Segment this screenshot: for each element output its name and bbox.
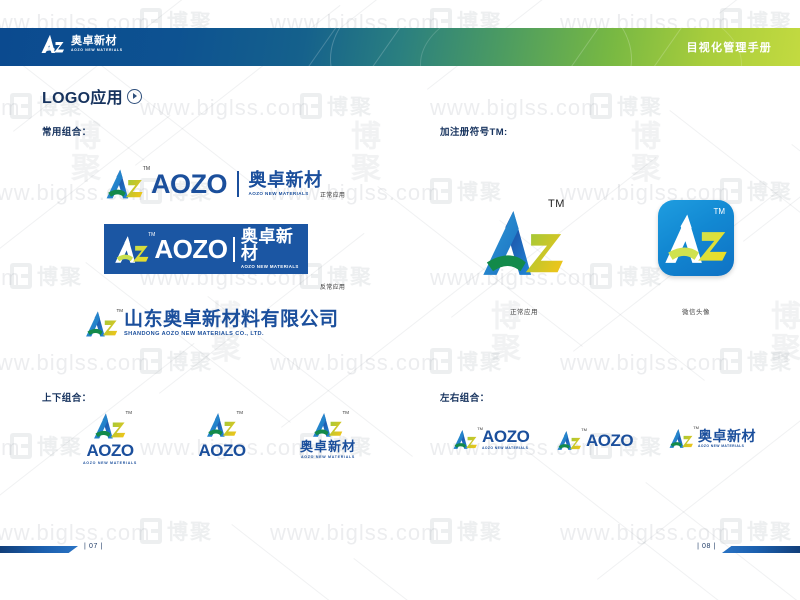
watermark-logo: 博聚 — [720, 346, 793, 376]
logo-row-aozo: TM AOZO — [556, 430, 633, 451]
watermark-url: www.biglss.com — [0, 265, 20, 291]
logo-en-sub: AOZO NEW MATERIALS — [249, 192, 323, 197]
aozo-a-icon — [40, 34, 66, 54]
logo-stack-cn: TM 奥卓新材 AOZO NEW MATERIALS — [276, 412, 380, 459]
header-logo: 奥卓新材 AOZO NEW MATERIALS — [40, 34, 123, 54]
section-heading-vertical: 上下组合： — [42, 390, 92, 404]
aozo-a-icon: TM — [104, 168, 146, 200]
watermark-url: www.biglss.com — [560, 350, 730, 376]
watermark-logo: 博聚 — [140, 346, 213, 376]
watermark-logo: 博聚 — [10, 261, 83, 291]
watermark-url: www.biglss.com — [270, 350, 440, 376]
watermark-diagonal — [523, 448, 728, 600]
section-heading-tm: 加注册符号TM: — [440, 124, 508, 138]
watermark-mark-cn: 博聚 — [617, 261, 663, 291]
footer-bar-right — [722, 546, 800, 553]
watermark-mark-cn: 博聚 — [747, 516, 793, 546]
logo-row-aozo-full: TM AOZO AOZO NEW MATERIALS — [452, 428, 530, 450]
watermark-g-icon — [430, 348, 452, 374]
logo-cn-name: 奥卓新材 — [249, 171, 323, 189]
logo-wordmark: AOZO — [151, 169, 227, 200]
aozo-a-icon: TM — [556, 430, 583, 451]
watermark-logo: 博聚 — [140, 516, 213, 546]
watermark-mark-cn: 博聚 — [457, 516, 503, 546]
page-title: LOGO应用 — [42, 84, 142, 108]
logo-divider — [233, 237, 234, 262]
caption-normal: 正常应用 — [320, 190, 345, 199]
watermark-logo: 博聚 — [590, 91, 663, 121]
watermark-mark-cn: 博聚 — [167, 346, 213, 376]
caption-reverse: 反常应用 — [320, 282, 345, 291]
watermark-g-icon — [300, 93, 322, 119]
watermark-logo: 博聚 — [430, 346, 503, 376]
watermark-g-icon — [720, 518, 742, 544]
logo-stack-aozo-full: TM AOZO AOZO NEW MATERIALS — [58, 412, 162, 465]
manual-title: 目视化管理手册 — [687, 39, 772, 55]
watermark-url: www.biglss.com — [0, 350, 150, 376]
watermark-big-glyph: 博聚 — [340, 120, 384, 184]
watermark-logo: 博聚 — [720, 516, 793, 546]
header-brand-cn: 奥卓新材 — [71, 36, 123, 47]
watermark-url: www.biglss.com — [0, 520, 150, 546]
watermark-big-glyph: 博聚 — [760, 300, 800, 364]
watermark-diagonal — [645, 482, 800, 600]
caption-tm-normal: 正常应用 — [478, 306, 570, 316]
logo-row-cn: TM 奥卓新材 AOZO NEW MATERIALS — [668, 428, 756, 449]
aozo-a-icon: TM — [452, 429, 479, 450]
watermark-url: www.biglss.com — [0, 435, 20, 461]
logo-lockup-normal: TM AOZO 奥卓新材 AOZO NEW MATERIALS — [104, 168, 323, 200]
watermark-mark-cn: 博聚 — [617, 91, 663, 121]
watermark-g-icon — [590, 263, 612, 289]
watermark-url: www.biglss.com — [430, 95, 600, 121]
watermark-url: www.biglss.com — [270, 520, 440, 546]
logo-lockup-full-name: TM 山东奥卓新材料有限公司 SHANDONG AOZO NEW MATERIA… — [84, 310, 339, 338]
logo-cn-name: 奥卓新材 — [241, 228, 308, 262]
logo-cn-name: 奥卓新材 — [698, 429, 756, 443]
logo-stack-aozo: TM AOZO — [170, 412, 274, 459]
watermark-diagonal — [231, 524, 436, 600]
watermark-mark-cn: 博聚 — [747, 346, 793, 376]
watermark-big-glyph: 博聚 — [620, 120, 664, 184]
logo-wordmark: AOZO — [86, 442, 133, 459]
aozo-a-icon-large — [478, 196, 570, 290]
footer-bar-left — [0, 546, 78, 553]
logo-en-sub: AOZO NEW MATERIALS — [83, 461, 137, 465]
watermark-g-icon — [430, 178, 452, 204]
watermark-mark-cn: 博聚 — [37, 261, 83, 291]
logo-en-sub: AOZO NEW MATERIALS — [241, 265, 308, 269]
logo-wordmark: AOZO — [154, 234, 227, 265]
watermark-diagonal — [353, 558, 558, 600]
page-title-text: LOGO应用 — [42, 84, 123, 108]
logo-divider — [237, 171, 239, 197]
watermark-mark-cn: 博聚 — [167, 516, 213, 546]
play-icon — [127, 89, 142, 104]
watermark-mark-cn: 博聚 — [747, 176, 793, 206]
section-heading-horizontal: 左右组合： — [440, 390, 490, 404]
logo-full-cn: 山东奥卓新材料有限公司 — [124, 310, 339, 329]
aozo-a-icon: TM — [113, 234, 151, 265]
header-brand-sub: AOZO NEW MATERIALS — [71, 49, 123, 52]
watermark-g-icon — [10, 93, 32, 119]
watermark-mark-cn: 博聚 — [457, 346, 503, 376]
watermark-logo: 博聚 — [590, 261, 663, 291]
logo-wordmark: AOZO — [482, 428, 530, 445]
logo-wordmark: AOZO — [198, 442, 245, 459]
watermark-diagonal — [85, 262, 290, 423]
page-header: 奥卓新材 AOZO NEW MATERIALS 目视化管理手册 — [0, 28, 800, 66]
page-number-left: | 07 | — [84, 543, 103, 550]
watermark-g-icon — [10, 433, 32, 459]
watermark-logo: 博聚 — [720, 176, 793, 206]
logo-wordmark: AOZO — [586, 431, 633, 451]
watermark-mark-cn: 博聚 — [327, 91, 373, 121]
logo-en-sub: AOZO NEW MATERIALS — [698, 445, 756, 448]
logo-lockup-reverse: TM AOZO 奥卓新材 AOZO NEW MATERIALS — [104, 224, 308, 274]
logo-full-en: SHANDONG AOZO NEW MATERIALS CO., LTD. — [124, 332, 339, 338]
watermark-url: www.biglss.com — [0, 95, 20, 121]
watermark-g-icon — [140, 348, 162, 374]
watermark-g-icon — [10, 263, 32, 289]
logo-en-sub: AOZO NEW MATERIALS — [301, 455, 355, 459]
watermark-url: www.biglss.com — [140, 95, 310, 121]
watermark-logo: 博聚 — [430, 516, 503, 546]
aozo-a-icon: TM — [668, 428, 695, 449]
watermark-g-icon — [140, 518, 162, 544]
logo-en-sub: AOZO NEW MATERIALS — [482, 447, 530, 450]
wechat-avatar-icon: TM — [658, 200, 734, 276]
logo-cn-name: 奥卓新材 — [300, 440, 356, 453]
watermark-diagonal — [791, 144, 800, 305]
aozo-a-icon: TM — [84, 310, 120, 338]
caption-wechat-avatar: 微信头像 — [658, 306, 734, 316]
tm-symbol-large: TM — [548, 198, 565, 210]
section-heading-common: 常用组合： — [42, 124, 92, 138]
watermark-diagonal — [719, 0, 800, 14]
tm-symbol: TM — [713, 207, 725, 216]
watermark-diagonal — [743, 81, 800, 242]
watermark-logo: 博聚 — [300, 91, 373, 121]
watermark-g-icon — [430, 518, 452, 544]
page-number-right: | 08 | — [697, 543, 716, 550]
watermark-g-icon — [590, 93, 612, 119]
watermark-g-icon — [720, 348, 742, 374]
